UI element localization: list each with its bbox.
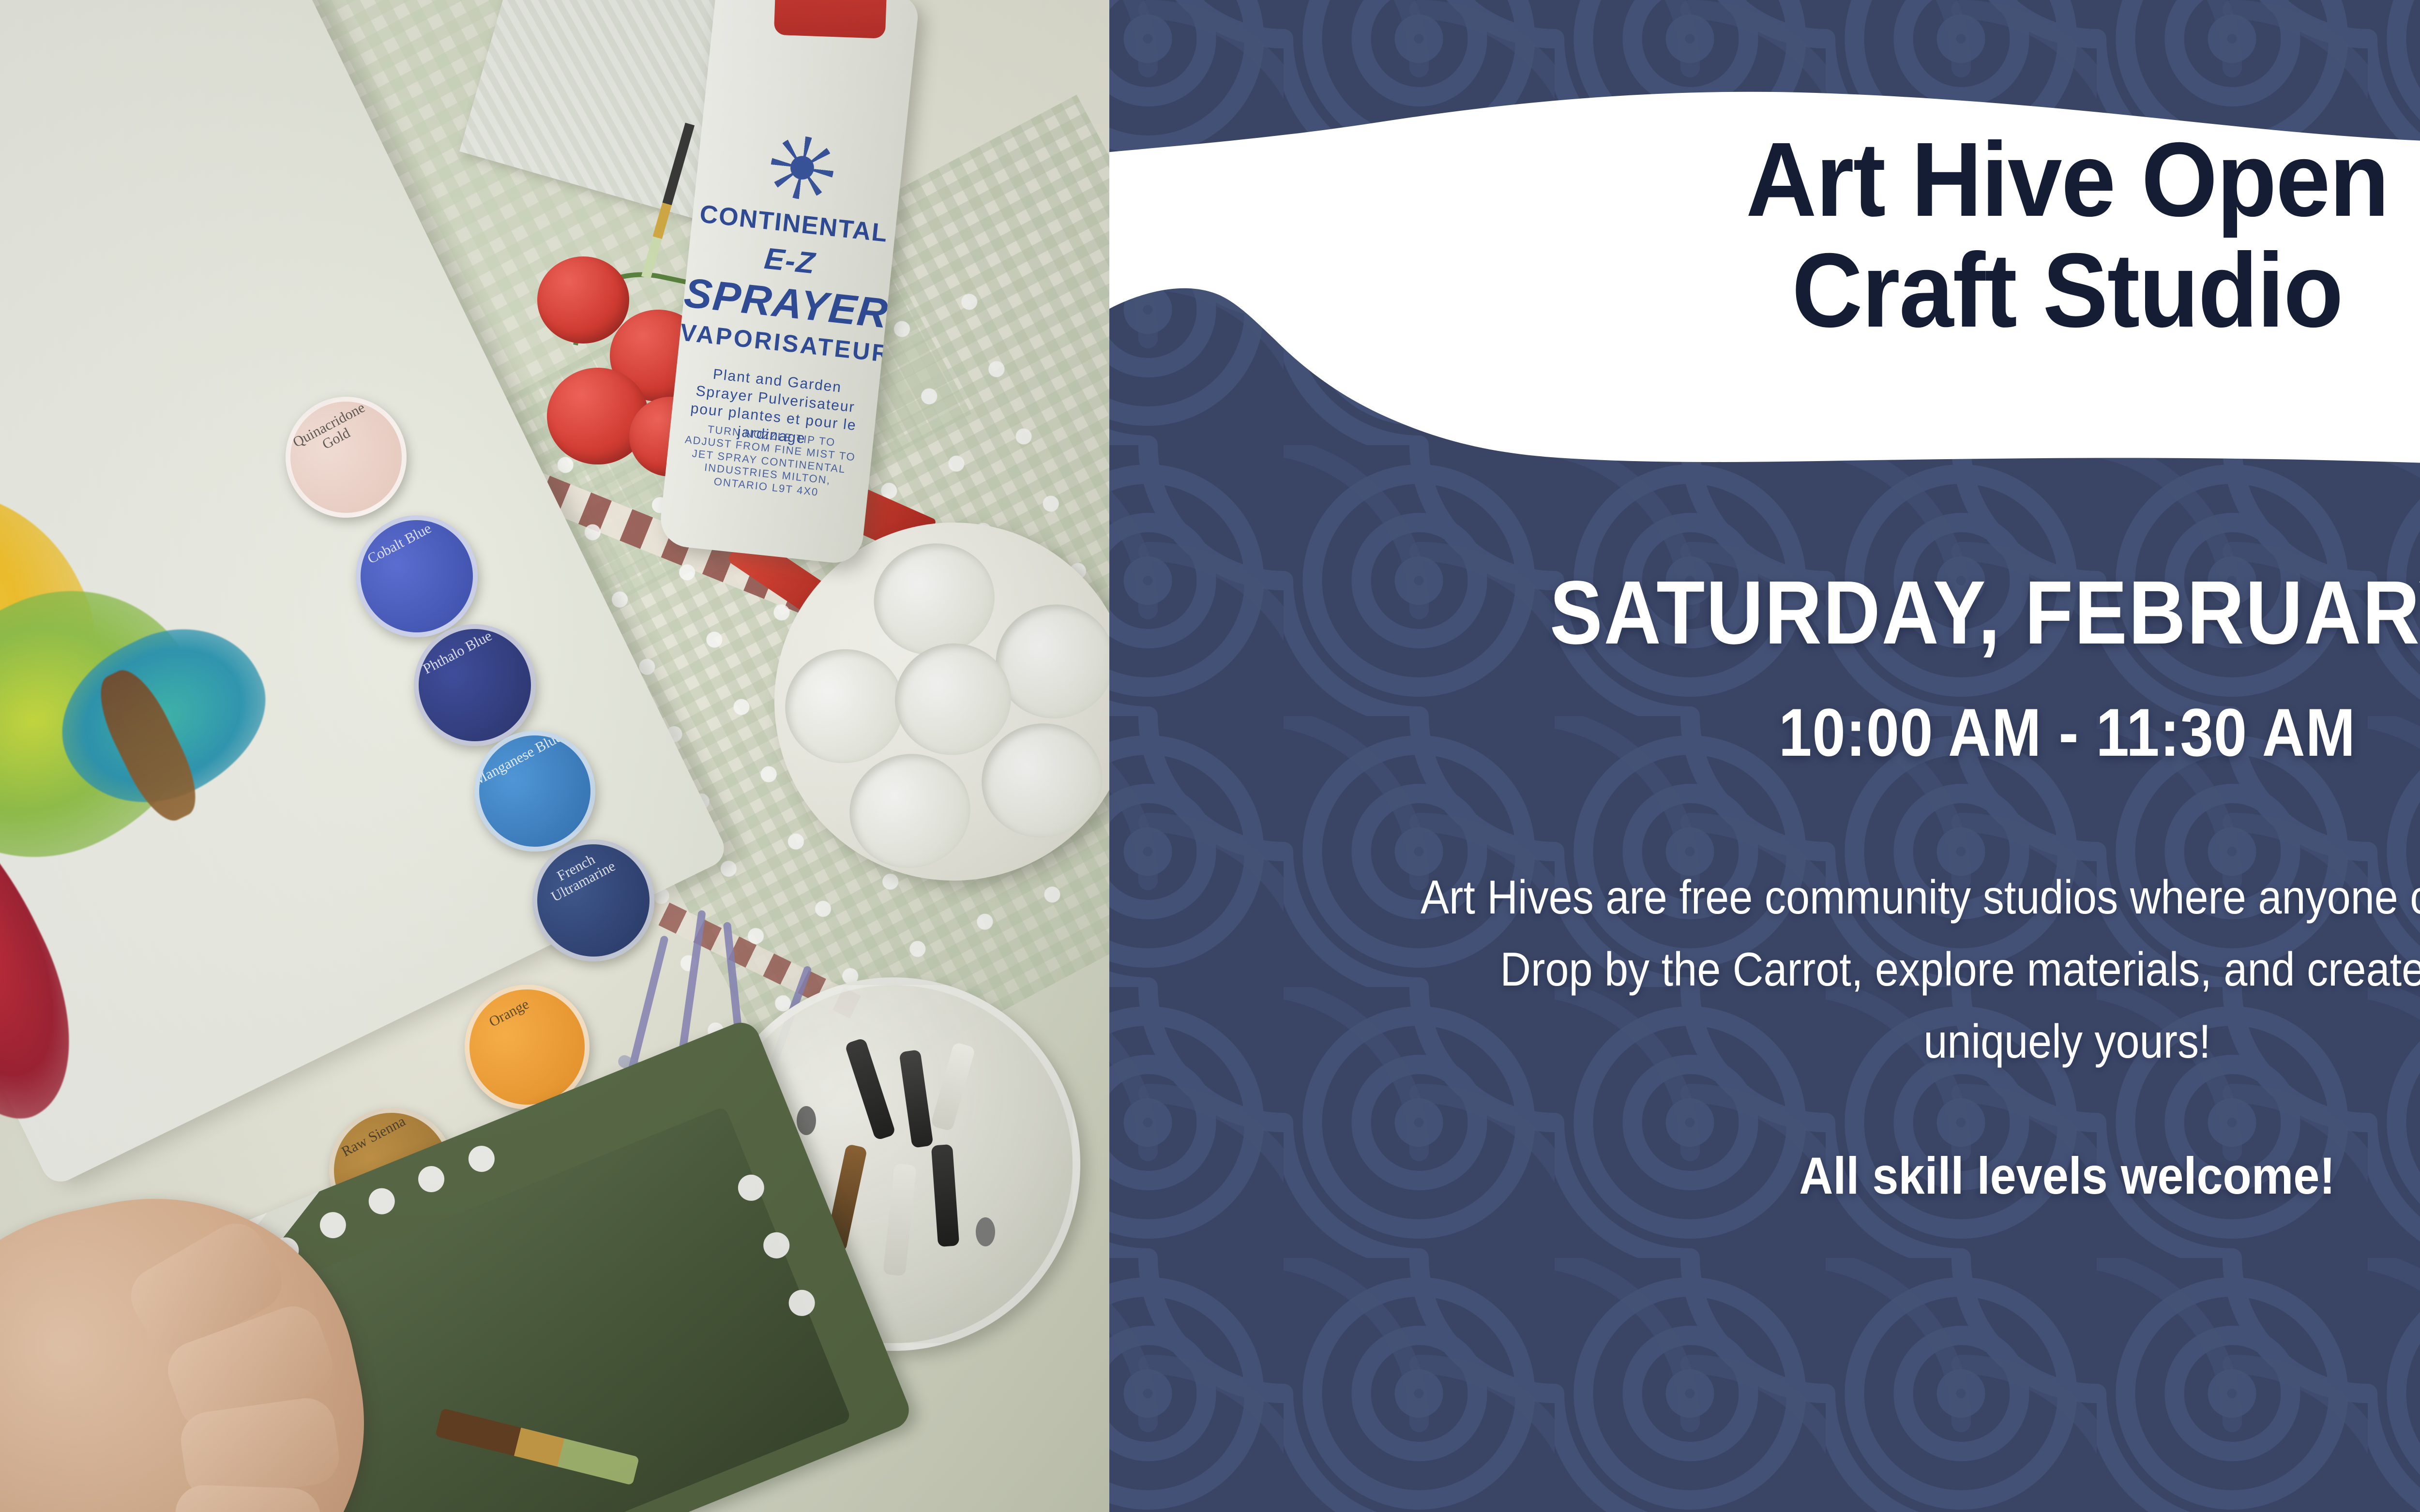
page-title: Art Hive Open Craft Studio: [1177, 125, 2420, 346]
art-studio-photo: Quinacridone Gold Cobalt Blue Phthalo Bl…: [0, 0, 1109, 1512]
event-tagline: All skill levels welcome!: [1205, 1145, 2420, 1206]
title-line-1: Art Hive Open: [1746, 121, 2389, 239]
bottle-cap: [774, 0, 889, 39]
event-banner: Quinacridone Gold Cobalt Blue Phthalo Bl…: [0, 0, 2420, 1512]
flower-logo-icon: [768, 133, 837, 202]
event-date: SATURDAY, FEBRUARY 28: [1224, 561, 2420, 664]
event-description: Art Hives are free community studios whe…: [1418, 861, 2420, 1078]
info-panel: Art Hive Open Craft Studio SATURDAY, FEB…: [1109, 0, 2420, 1512]
event-time: 10:00 AM - 11:30 AM: [1224, 693, 2420, 772]
title-line-2: Craft Studio: [1792, 232, 2343, 349]
event-details: SATURDAY, FEBRUARY 28 10:00 AM - 11:30 A…: [1109, 561, 2420, 1206]
